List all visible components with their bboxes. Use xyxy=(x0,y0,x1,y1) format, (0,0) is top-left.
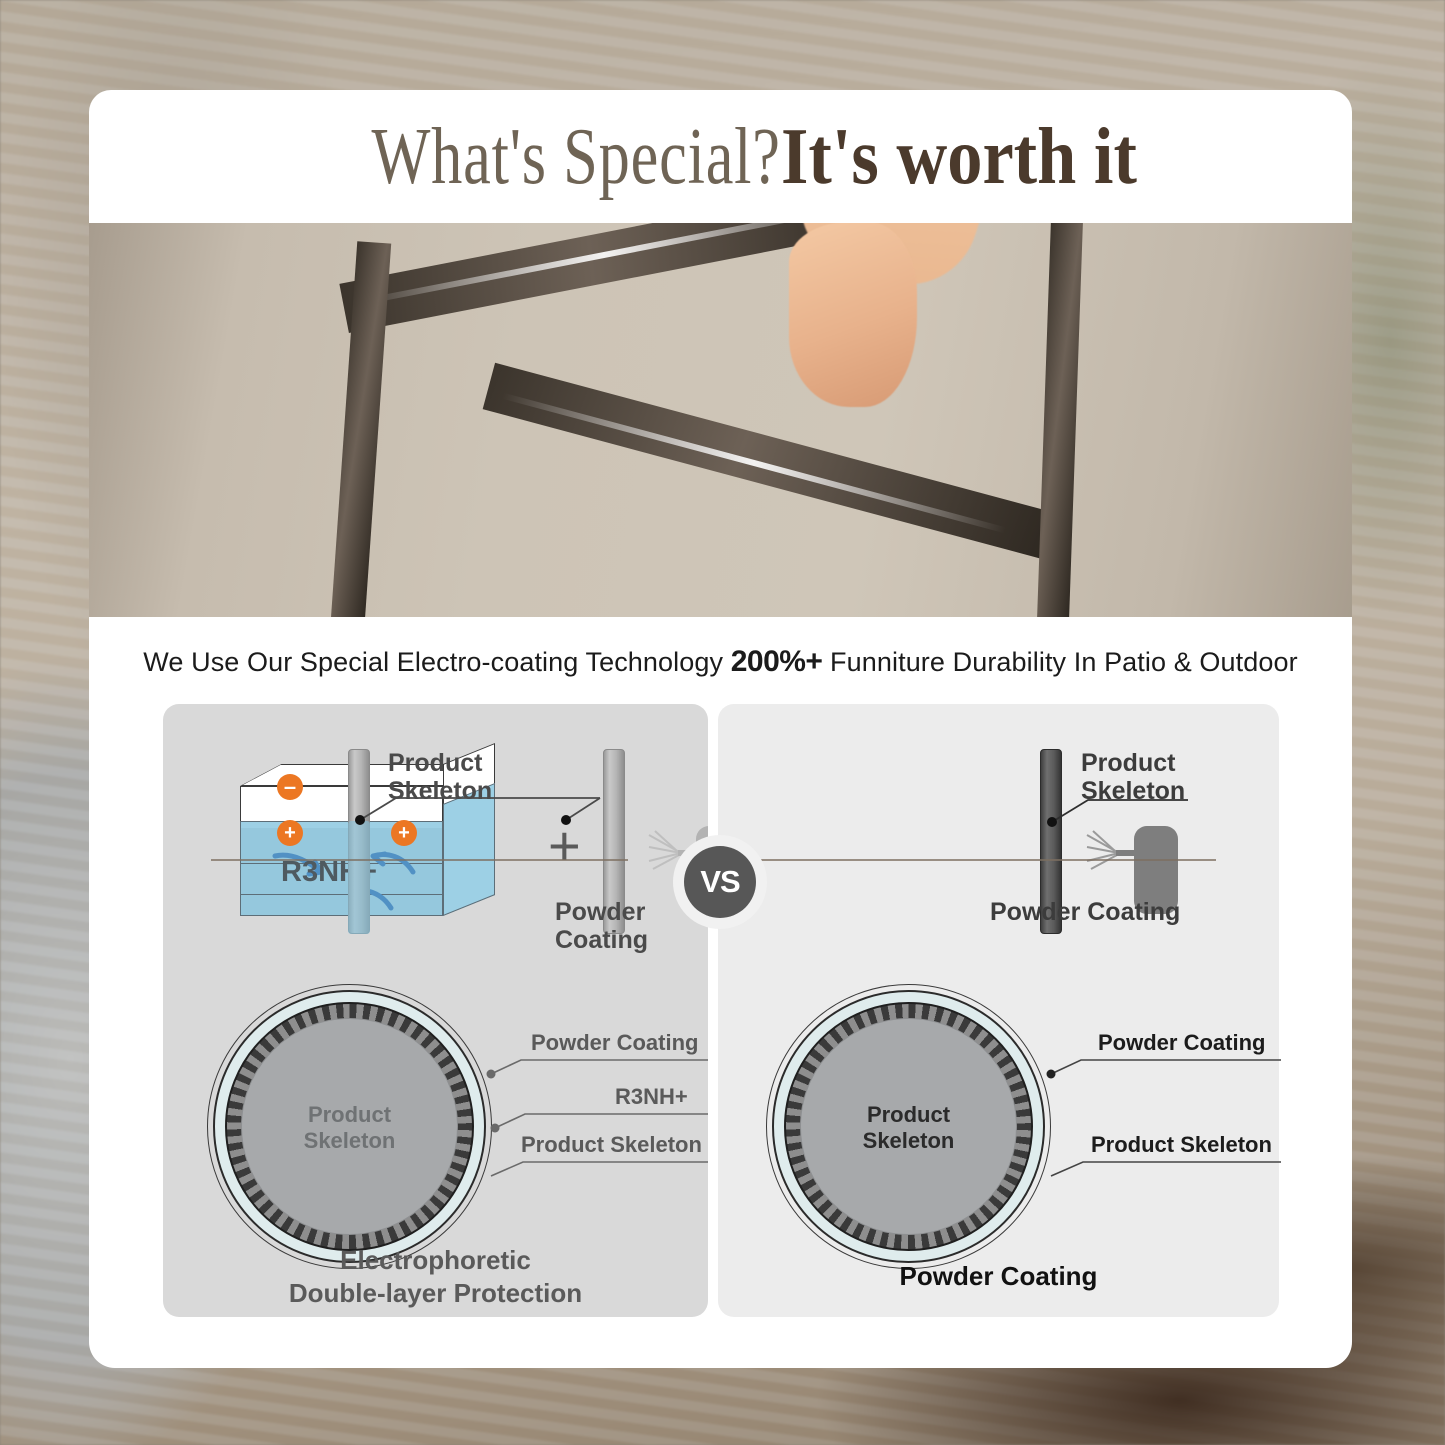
plus-symbol: + xyxy=(548,818,581,874)
subtitle: We Use Our Special Electro-coating Techn… xyxy=(89,645,1352,679)
left-callout-r3nh: R3NH+ xyxy=(615,1084,688,1110)
vs-label: VS xyxy=(684,846,756,918)
chair-frame-diagonal-rail xyxy=(483,363,1056,559)
subtitle-part2: Funniture Durability In Patio & Outdoor xyxy=(822,647,1297,677)
right-panel-caption: Powder Coating xyxy=(718,1260,1279,1293)
panel-powder-coating: Product Skeleton Powder Coating Product … xyxy=(718,704,1279,1317)
left-cs-leader-lines xyxy=(483,1034,713,1224)
panel-electrophoretic: + + – R3NH+ Product Skeleton + xyxy=(163,704,708,1317)
right-cross-section: Product Skeleton xyxy=(766,984,1051,1269)
vs-badge: VS xyxy=(673,835,767,929)
header-card: What's Special?It's worth it xyxy=(89,90,1352,223)
right-powder-coating-label: Powder Coating xyxy=(990,898,1180,926)
subtitle-part1: We Use Our Special Electro-coating Techn… xyxy=(143,647,730,677)
left-callout-product-skeleton: Product Skeleton xyxy=(521,1132,702,1158)
cs-core-label-right: Product Skeleton xyxy=(800,1102,1017,1155)
subtitle-highlight: 200%+ xyxy=(731,645,823,678)
ion-negative: – xyxy=(277,774,303,800)
divider-right xyxy=(751,859,1216,861)
title-statement: It's worth it xyxy=(781,117,1137,197)
comparison-card: We Use Our Special Electro-coating Techn… xyxy=(89,617,1352,1368)
model-hand xyxy=(789,222,917,407)
chair-frame-diagonal-gloss xyxy=(502,393,1006,533)
left-panel-caption: Electrophoretic Double-layer Protection xyxy=(163,1244,708,1309)
page-title: What's Special?It's worth it xyxy=(256,117,1185,197)
right-callout-powder-coating: Powder Coating xyxy=(1098,1030,1265,1056)
left-cross-section: Product Skeleton xyxy=(207,984,492,1269)
ion-positive-left: + xyxy=(277,820,303,846)
right-cs-leader-lines xyxy=(1043,1034,1283,1224)
cs-core-label-left: Product Skeleton xyxy=(241,1102,458,1155)
left-callout-powder-coating: Powder Coating xyxy=(531,1030,698,1056)
panel-gap xyxy=(708,704,718,1317)
title-question: What's Special? xyxy=(371,117,780,197)
chair-frame-right-post xyxy=(1037,222,1083,618)
chair-frame-left-post xyxy=(331,241,391,618)
right-callout-product-skeleton: Product Skeleton xyxy=(1091,1132,1272,1158)
divider-left xyxy=(211,859,628,861)
hero-product-photo xyxy=(89,222,1352,618)
